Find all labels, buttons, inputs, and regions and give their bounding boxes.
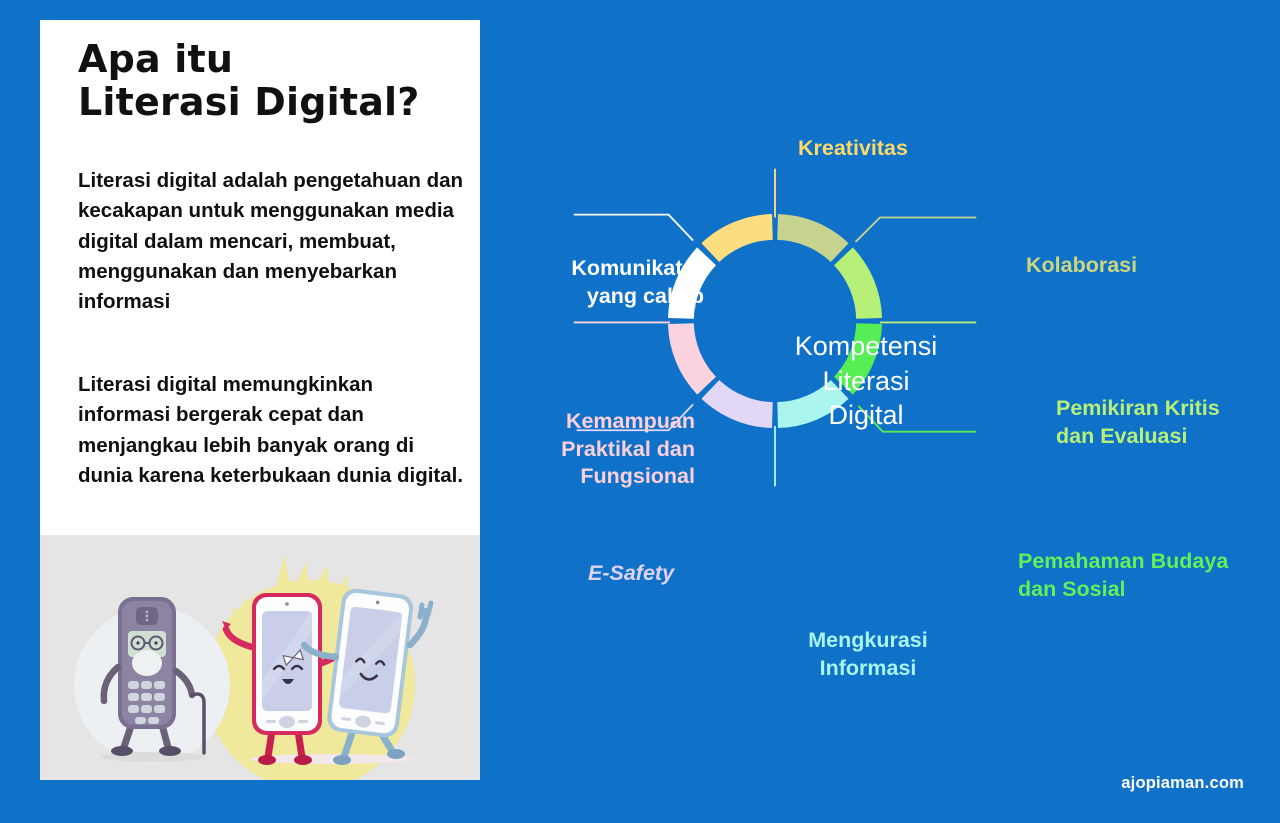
paragraph-benefit: Literasi digital memungkinkan informasi …	[78, 370, 470, 491]
competency-wheel	[545, 31, 1005, 611]
text-panel: Apa itu Literasi Digital? Literasi digit…	[40, 20, 480, 535]
wheel-segment-4[interactable]	[777, 380, 848, 428]
wheel-label-mengkurasi: Mengkurasi Informasi	[800, 627, 936, 682]
wheel-segment-3[interactable]	[834, 323, 882, 394]
phone-characters-illustration	[40, 535, 480, 780]
page-title: Apa itu Literasi Digital?	[78, 38, 458, 123]
wheel-label-esafety: E-Safety	[588, 560, 674, 588]
leader-line-7	[574, 215, 693, 241]
illustration-panel	[40, 535, 480, 780]
wheel-segments	[668, 214, 882, 428]
wheel-label-kreativitas: Kreativitas	[798, 135, 908, 163]
watermark: ajopiaman.com	[1121, 774, 1244, 793]
wheel-segment-0[interactable]	[701, 214, 772, 262]
wheel-segment-1[interactable]	[777, 214, 848, 262]
wheel-segment-2[interactable]	[834, 247, 882, 318]
wheel-segment-5[interactable]	[701, 380, 772, 428]
leader-line-3	[858, 406, 976, 432]
wheel-label-pemikiran-kritis: Pemikiran Kritis dan Evaluasi	[1056, 395, 1220, 450]
wheel-label-komunikator: Komunikator yang cakap	[558, 255, 704, 310]
page-title-line1: Apa itu	[78, 37, 233, 81]
wheel-label-kemampuan: Kemampuan Praktikal dan Fungsional	[543, 408, 695, 491]
paragraph-definition: Literasi digital adalah pengetahuan dan …	[78, 166, 470, 318]
wheel-segment-6[interactable]	[668, 323, 716, 394]
wheel-label-kolaborasi: Kolaborasi	[1026, 252, 1137, 280]
infographic-canvas: Apa itu Literasi Digital? Literasi digit…	[0, 0, 1280, 823]
leader-line-1	[856, 218, 977, 242]
wheel-label-pemahaman-budaya: Pemahaman Budaya dan Sosial	[1018, 548, 1228, 603]
page-title-line2: Literasi Digital?	[78, 81, 458, 124]
